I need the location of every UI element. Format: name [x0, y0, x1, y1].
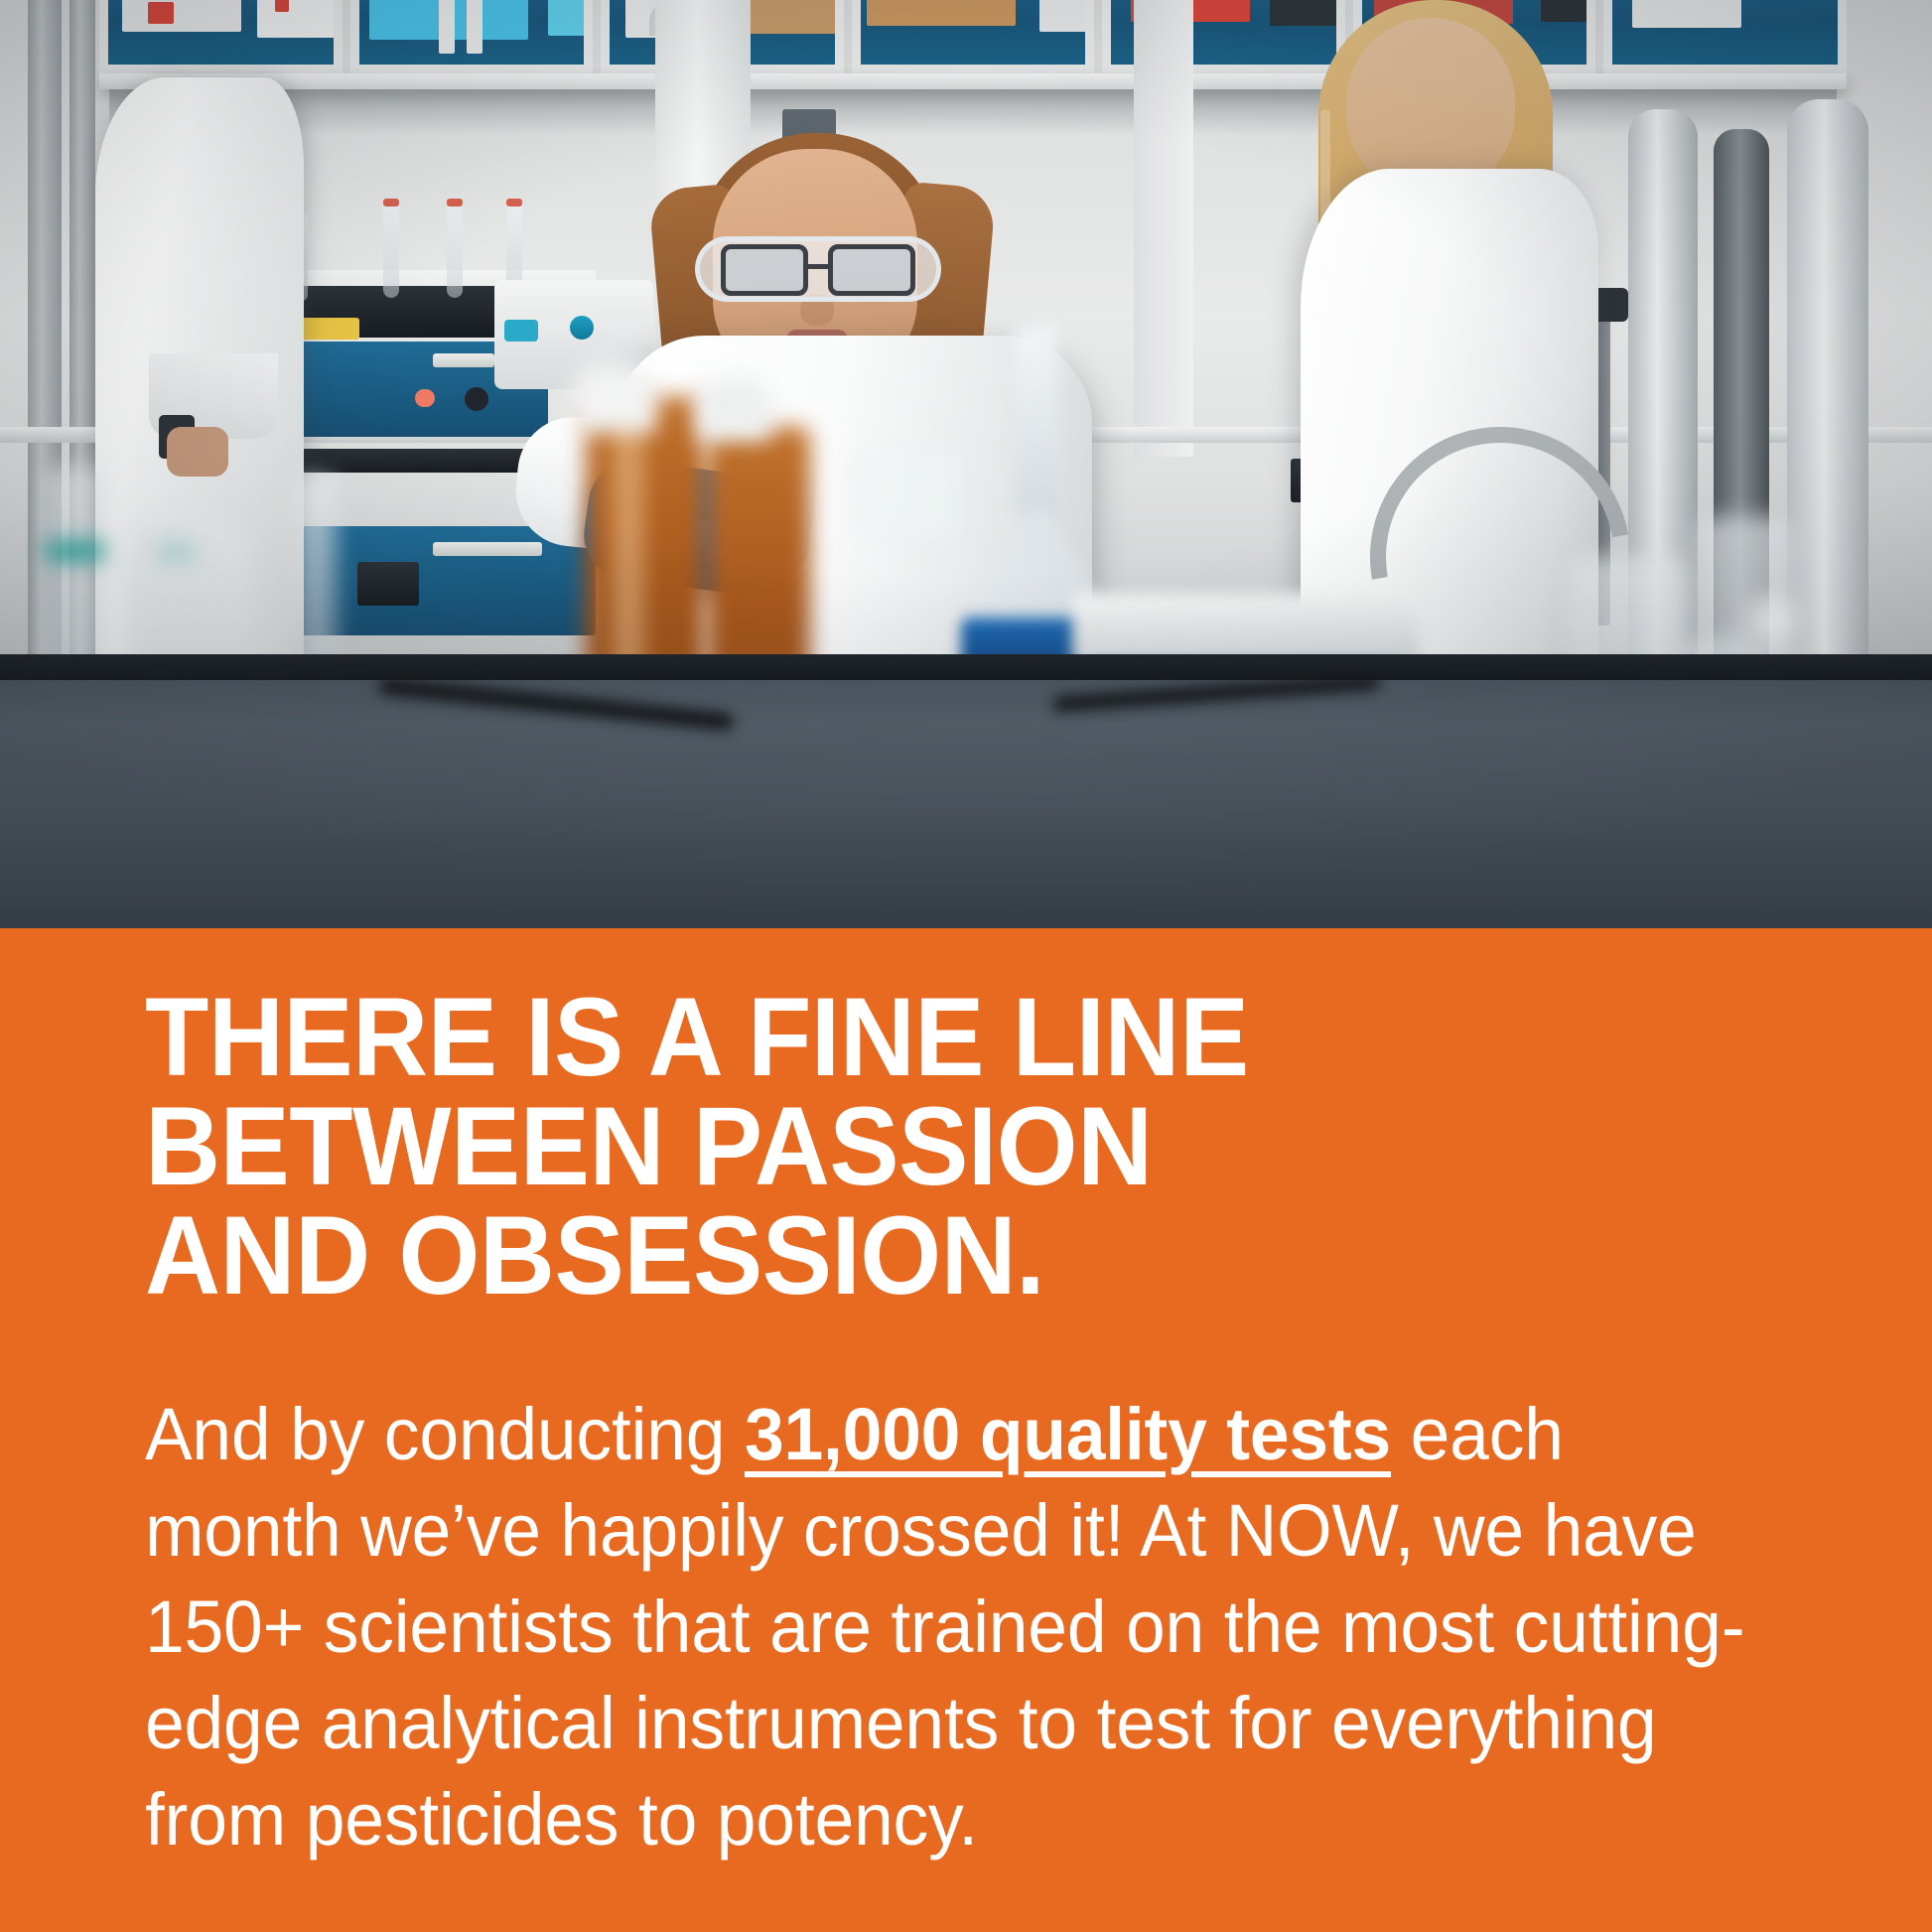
erlenmeyer-flask: [1015, 326, 1058, 514]
small-beaker: [852, 453, 961, 536]
amber-flask-neck-highlight: [614, 395, 643, 693]
quality-tests-emphasis: 31,000 quality tests: [745, 1393, 1391, 1475]
page-title: THERE IS A FINE LINE BETWEEN PASSION AND…: [145, 983, 1731, 1311]
wall-pillar-right: [1134, 0, 1193, 457]
body-paragraph: And by conducting 31,000 quality tests e…: [145, 1386, 1764, 1867]
cylinder-teal-band: [46, 542, 103, 560]
upper-cabinets: [99, 0, 1847, 73]
centrifuge-indicator: [570, 316, 594, 340]
gas-cylinder: [1787, 99, 1868, 675]
eyeglasses: [721, 244, 915, 296]
cabinet-panel: [350, 0, 594, 73]
cabinet-panel: [852, 0, 1095, 73]
hair-highlight: [1320, 109, 1330, 427]
eyeglass-bridge: [808, 264, 830, 269]
cabinet-panel: [99, 0, 343, 73]
flask-stopper: [572, 363, 657, 433]
headline-line-3: AND OBSESSION.: [145, 1193, 1044, 1317]
cabinet-panel: [1603, 0, 1847, 73]
body-text-part-1: And by conducting: [145, 1393, 745, 1475]
undershelf-shadow: [109, 89, 1837, 135]
social-card: 500 THERE IS A FINE LINE BETWEEN PASSION…: [0, 0, 1932, 1932]
bench-front-edge: [0, 654, 1932, 680]
lab-photo: 500: [0, 0, 1932, 928]
flask-stopper: [695, 377, 772, 441]
burette-tip: [506, 199, 522, 207]
burette-tip: [383, 199, 399, 207]
headline-line-2: BETWEEN PASSION: [145, 1084, 1153, 1208]
headline-line-1: THERE IS A FINE LINE: [145, 975, 1249, 1099]
eyeglass-lens-right: [828, 244, 915, 296]
lower-cabinet-label: [433, 542, 542, 556]
analyzer-knob: [465, 387, 488, 411]
glass-highlight: [1747, 596, 1797, 645]
eyeglass-lens-left: [721, 244, 808, 296]
scientist-left-hand: [167, 427, 228, 477]
cabinet-shelf-lip: [99, 73, 1847, 89]
burette: [383, 199, 399, 298]
burette: [447, 199, 463, 298]
lower-cabinet-handle: [357, 562, 419, 606]
burette-tip: [447, 199, 463, 207]
analyzer-display: [433, 353, 494, 367]
centrifuge-accent: [504, 320, 538, 342]
analyzer-status-led: [415, 389, 435, 407]
lab-benchtop: [0, 680, 1932, 928]
